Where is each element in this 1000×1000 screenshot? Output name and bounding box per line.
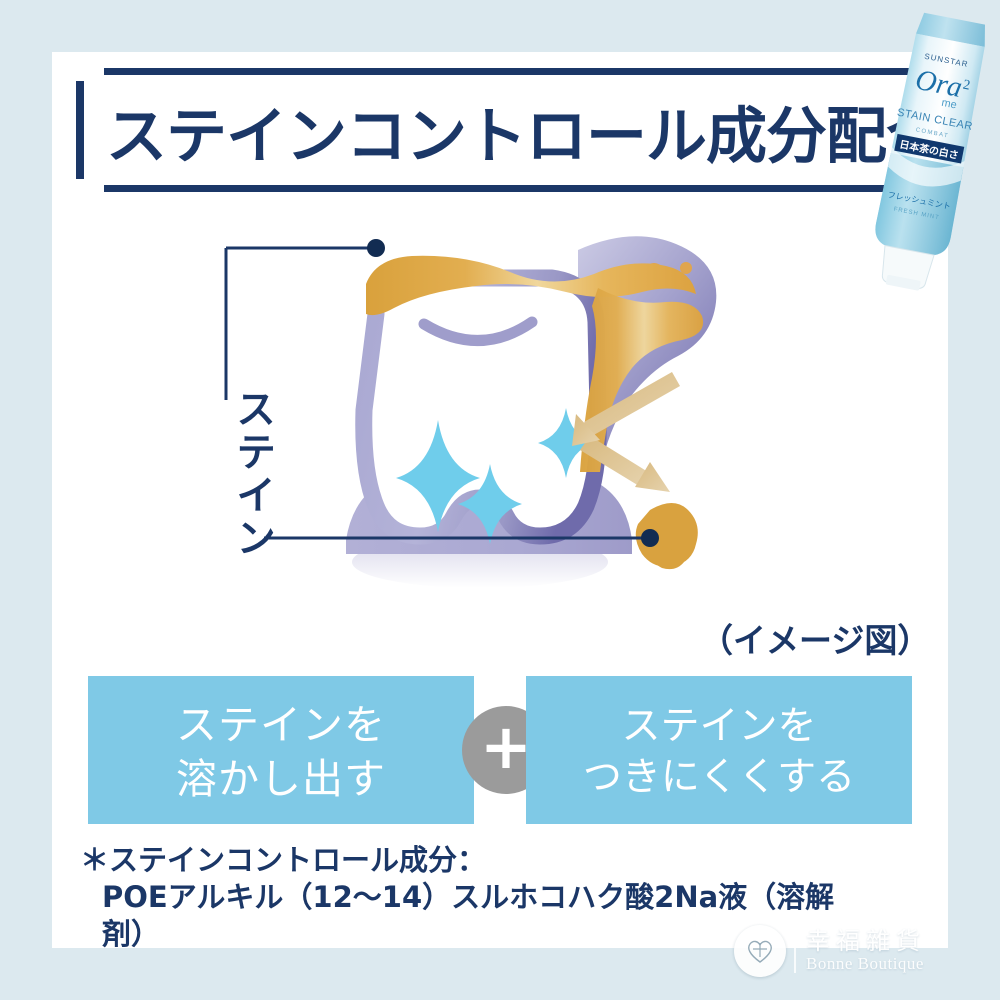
footnote-line-1: ＊ステインコントロール成分： xyxy=(80,842,840,879)
image-caption: （イメージ図） xyxy=(700,614,930,662)
header-rule-top xyxy=(104,68,924,75)
watermark-name-cn: 幸福雜貨 xyxy=(806,928,926,954)
benefit-right-line1: ステインを xyxy=(621,701,816,752)
watermark-divider xyxy=(794,929,796,973)
benefit-left-line2: 溶かし出す xyxy=(176,752,386,806)
benefit-box-dissolve: ステインを 溶かし出す xyxy=(88,676,474,824)
watermark-text: 幸福雜貨 Bonne Boutique xyxy=(806,928,926,975)
header-rule-bottom xyxy=(104,185,924,192)
watermark-name-en: Bonne Boutique xyxy=(806,954,926,974)
benefit-left-line1: ステインを xyxy=(176,698,386,752)
footnote: ＊ステインコントロール成分： POEアルキル（12〜14）スルホコハク酸2Na液… xyxy=(80,842,840,953)
svg-text:2: 2 xyxy=(962,78,972,94)
heart-logo-icon xyxy=(745,937,775,965)
page-title: ステインコントロール成分配合 xyxy=(106,80,924,180)
watermark-logo xyxy=(734,925,786,977)
benefit-boxes: ステインを 溶かし出す + ステインを つきにくくする xyxy=(88,676,912,824)
header: ステインコントロール成分配合 xyxy=(76,68,924,192)
header-accent-bar xyxy=(76,81,84,179)
plus-icon: + xyxy=(480,716,532,778)
stain-callout-label: ステイン xyxy=(216,388,272,560)
benefit-box-prevent: ステインを つきにくくする xyxy=(526,676,912,824)
benefit-right-line2: つきにくくする xyxy=(583,752,855,803)
infographic-page: ステインコントロール成分配合 xyxy=(0,0,1000,1000)
tooth-illustration xyxy=(180,210,820,610)
watermark: 幸福雜貨 Bonne Boutique xyxy=(734,918,982,984)
footnote-line-2: POEアルキル（12〜14）スルホコハク酸2Na液（溶解剤） xyxy=(80,879,840,953)
